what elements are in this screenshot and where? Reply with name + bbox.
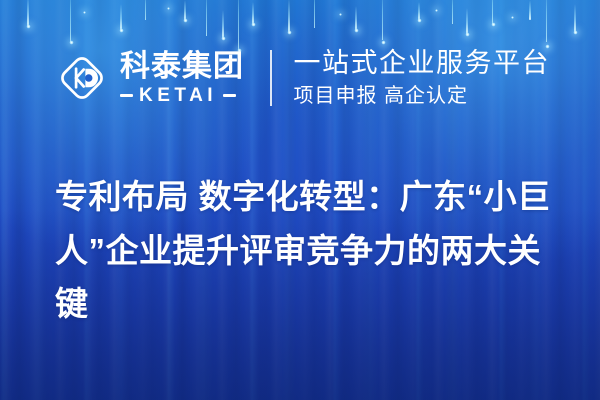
header-divider <box>270 50 272 106</box>
ketai-diamond-monogram-icon <box>55 51 109 105</box>
page-title: 专利布局 数字化转型：广东“小巨人”企业提升评审竞争力的两大关键 <box>55 170 560 330</box>
banner-header: 科泰集团 KETAI 一站式企业服务平台 项目申报 高企认定 <box>0 38 600 118</box>
brand-logo-wordmark: 科泰集团 KETAI <box>120 51 244 105</box>
logo-dash-left-icon <box>120 94 133 97</box>
tagline-secondary: 项目申报 高企认定 <box>294 84 551 108</box>
brand-name-cn: 科泰集团 <box>120 51 244 83</box>
tagline-primary: 一站式企业服务平台 <box>294 48 551 78</box>
logo-dash-right-icon <box>223 94 236 97</box>
brand-logo[interactable]: 科泰集团 KETAI <box>55 51 244 105</box>
header-tagline: 一站式企业服务平台 项目申报 高企认定 <box>294 48 551 108</box>
promo-banner: 科泰集团 KETAI 一站式企业服务平台 项目申报 高企认定 专利布局 数字化转… <box>0 0 600 400</box>
brand-name-en: KETAI <box>139 86 217 105</box>
brand-name-en-row: KETAI <box>120 86 244 105</box>
